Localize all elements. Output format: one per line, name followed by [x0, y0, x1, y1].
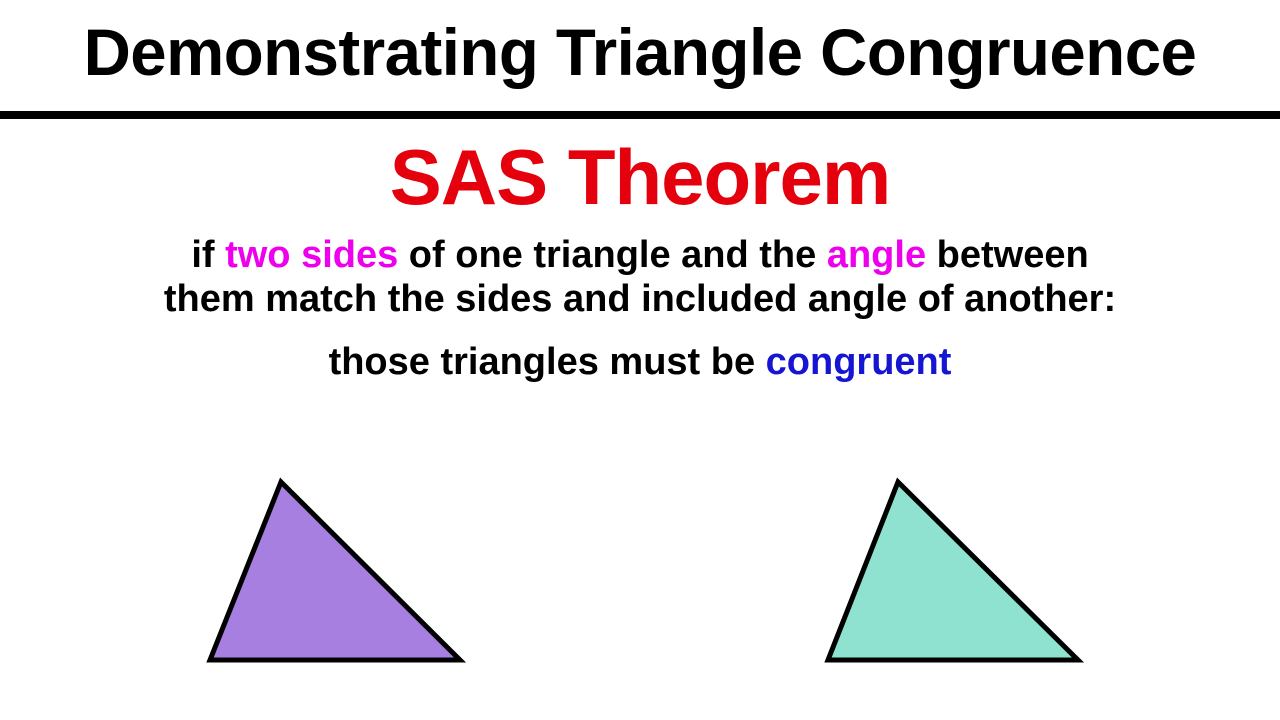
- theorem-heading: SAS Theorem: [0, 134, 1280, 220]
- theorem-statement: if two sides of one triangle and the ang…: [0, 233, 1280, 384]
- statement-line-1-highlight-two-sides: two sides: [225, 234, 398, 276]
- statement-line-3-highlight-congruent: congruent: [766, 341, 952, 383]
- statement-line-1-part-2: of one triangle and the: [398, 234, 827, 276]
- statement-line-1-highlight-angle: angle: [827, 234, 926, 276]
- statement-line-1-part-1: if: [191, 234, 225, 276]
- statement-line-1-part-3: between: [926, 234, 1089, 276]
- page-title: Demonstrating Triangle Congruence: [6, 16, 1273, 88]
- statement-line-1: if two sides of one triangle and the ang…: [0, 233, 1280, 277]
- teal-triangle: [828, 482, 1078, 660]
- slide-canvas: Demonstrating Triangle Congruence SAS Th…: [0, 0, 1280, 720]
- purple-triangle: [210, 482, 460, 660]
- title-divider-rule: [0, 111, 1280, 119]
- statement-line-3: those triangles must be congruent: [0, 340, 1280, 384]
- statement-line-2: them match the sides and included angle …: [0, 277, 1280, 321]
- statement-line-3-part-1: those triangles must be: [329, 341, 766, 383]
